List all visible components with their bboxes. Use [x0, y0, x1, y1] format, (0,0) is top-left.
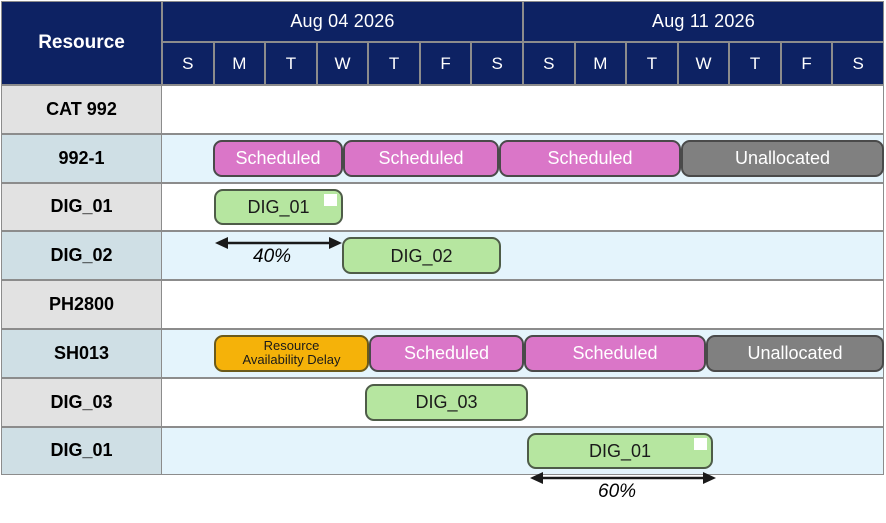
gantt-bar-label: Unallocated — [735, 148, 830, 168]
gantt-bar-label: Scheduled — [404, 343, 489, 363]
resource-row-label[interactable]: DIG_03 — [1, 378, 162, 427]
gantt-header: Resource Aug 04 2026Aug 11 2026 SMTWTFSS… — [1, 1, 884, 85]
gantt-bar-unallocated[interactable]: Unallocated — [681, 140, 884, 177]
day-header-cell: T — [729, 42, 781, 85]
day-header-cell: T — [626, 42, 678, 85]
gantt-bar-label: Unallocated — [747, 343, 842, 363]
milestone-marker-icon — [324, 194, 337, 206]
day-header-cell: W — [678, 42, 730, 85]
gantt-bar-unallocated[interactable]: Unallocated — [706, 335, 884, 372]
resource-row-label[interactable]: 992-1 — [1, 134, 162, 183]
gantt-chart: Resource Aug 04 2026Aug 11 2026 SMTWTFSS… — [0, 0, 886, 523]
gantt-bar-label: DIG_01 — [247, 197, 309, 217]
gantt-bar-task[interactable]: DIG_01 — [527, 433, 713, 470]
gantt-bar-scheduled[interactable]: Scheduled — [369, 335, 524, 372]
timeline-row-track[interactable]: ResourceAvailability DelayScheduledSched… — [162, 329, 884, 378]
day-header-cell: M — [214, 42, 266, 85]
timeline-row-track[interactable]: DIG_03 — [162, 378, 884, 427]
resource-row-label[interactable]: CAT 992 — [1, 85, 162, 134]
resource-column-header: Resource — [1, 1, 162, 85]
timeline-row-track[interactable]: DIG_01 — [162, 183, 884, 232]
gantt-bar-task[interactable]: DIG_02 — [342, 237, 501, 274]
gantt-bar-task[interactable]: DIG_01 — [214, 189, 343, 226]
week-header: Aug 04 2026 — [162, 1, 523, 42]
gantt-bar-label: DIG_02 — [390, 246, 452, 266]
gantt-bar-label: DIG_01 — [589, 441, 651, 461]
gantt-bar-scheduled[interactable]: Scheduled — [343, 140, 499, 177]
gantt-bar-label: ResourceAvailability Delay — [242, 339, 340, 368]
gantt-bar-label: Scheduled — [547, 148, 632, 168]
resource-row-label[interactable]: SH013 — [1, 329, 162, 378]
resource-row-label[interactable]: DIG_02 — [1, 231, 162, 280]
timeline-row-track[interactable]: DIG_01 — [162, 427, 884, 476]
day-header-cell: S — [162, 42, 214, 85]
day-header-cell: S — [523, 42, 575, 85]
resource-row-label[interactable]: DIG_01 — [1, 427, 162, 476]
day-header-cell: T — [265, 42, 317, 85]
gantt-bar-label: Scheduled — [235, 148, 320, 168]
gantt-bar-scheduled[interactable]: Scheduled — [213, 140, 343, 177]
gantt-bar-task[interactable]: DIG_03 — [365, 384, 528, 421]
day-header-cell: W — [317, 42, 369, 85]
day-header-cell: F — [420, 42, 472, 85]
week-header: Aug 11 2026 — [523, 1, 884, 42]
timeline-row-track[interactable] — [162, 280, 884, 329]
gantt-bar-scheduled[interactable]: Scheduled — [499, 140, 681, 177]
day-header-cell: S — [471, 42, 523, 85]
day-header-cell: F — [781, 42, 833, 85]
timeline-row-track[interactable] — [162, 85, 884, 134]
gantt-bar-label: Scheduled — [378, 148, 463, 168]
resource-row-label[interactable]: PH2800 — [1, 280, 162, 329]
progress-percent-label: 40% — [253, 246, 291, 268]
gantt-bar-label: DIG_03 — [415, 392, 477, 412]
gantt-bar-scheduled[interactable]: Scheduled — [524, 335, 706, 372]
day-header-cell: T — [368, 42, 420, 85]
resource-row-label[interactable]: DIG_01 — [1, 183, 162, 232]
gantt-bar-label: Scheduled — [572, 343, 657, 363]
day-header-cell: S — [832, 42, 884, 85]
progress-percent-label: 60% — [598, 481, 636, 503]
gantt-bar-delay[interactable]: ResourceAvailability Delay — [214, 335, 369, 372]
milestone-marker-icon — [694, 438, 707, 450]
day-header-cell: M — [575, 42, 627, 85]
timeline-row-track[interactable]: ScheduledScheduledScheduledUnallocated — [162, 134, 884, 183]
